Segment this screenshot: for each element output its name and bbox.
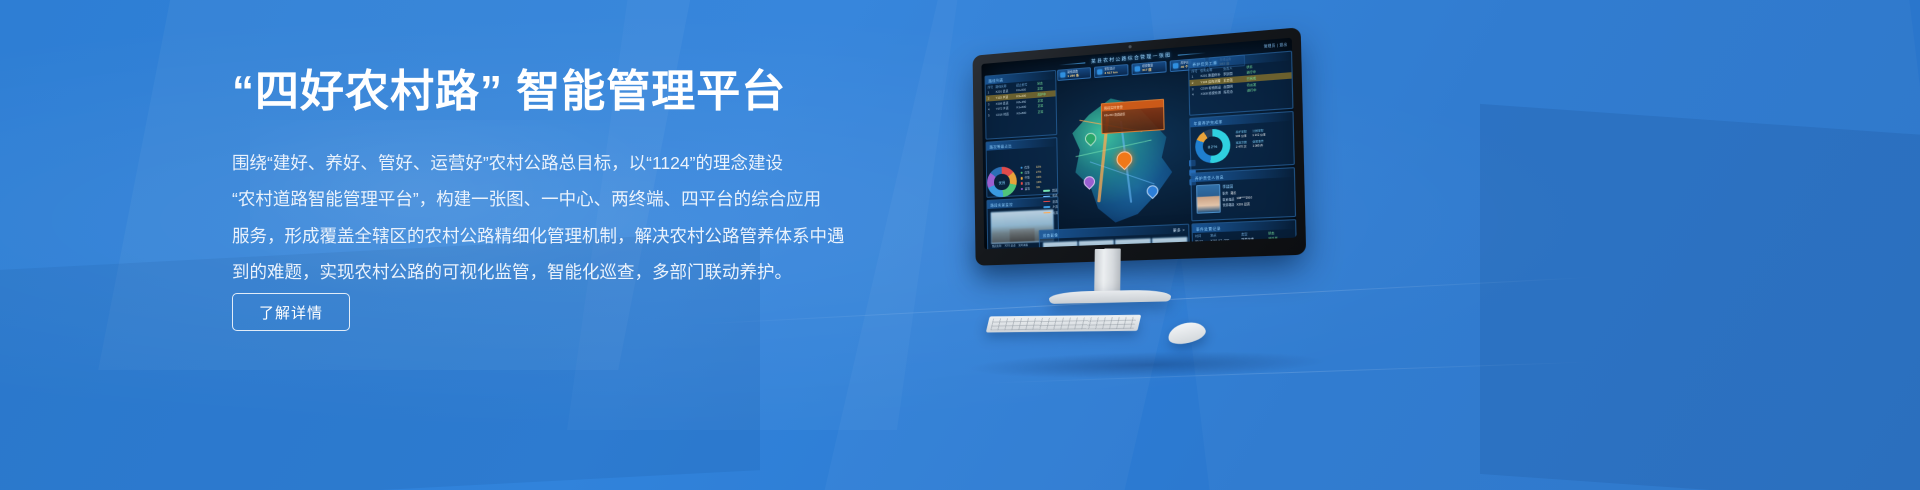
legend-label: 优等: [1024, 165, 1034, 170]
legend-label: 良等: [1024, 170, 1034, 175]
description-line: 服务，形成覆盖全辖区的农村公路精细化管理机制，解决农村公路管养体系中遇: [232, 218, 846, 254]
legend-swatch: [1043, 195, 1050, 197]
legend-label: 乡道: [1052, 205, 1057, 209]
stat-value: 2 470 次: [1236, 144, 1249, 149]
donut-center-label: 优良: [999, 179, 1006, 184]
legend-value: 32%: [1036, 165, 1041, 168]
field-label: 职务: [1223, 191, 1229, 196]
kpi-value: 317 座: [1142, 67, 1153, 72]
kpi-card[interactable]: 路线总数1 286 条: [1057, 67, 1091, 81]
field-value: 138****2910: [1236, 196, 1252, 201]
hero-banner: “四好农村路” 智能管理平台 围绕“建好、养好、管好、运营好”农村公路总目标，以…: [0, 0, 1920, 490]
mouse[interactable]: [1166, 319, 1208, 347]
panel-title: 巡查影像: [1043, 232, 1058, 238]
stat-value: 936 公里: [1236, 133, 1249, 138]
legend-swatch: [1021, 166, 1023, 169]
map-legend: 国道 省道 县道 乡道 村道: [1043, 188, 1058, 216]
kpi-value: 1 286 条: [1067, 73, 1079, 78]
person-details: 李建国 职务路长 联系电话138****2910 管养路段X201 县道: [1222, 182, 1252, 207]
panel-title: 养护责任人信息: [1191, 168, 1294, 182]
legend-label: 差等: [1025, 186, 1035, 191]
field-value: 路长: [1230, 191, 1236, 196]
avatar: [1196, 184, 1221, 214]
learn-more-button[interactable]: 了解详情: [232, 293, 350, 331]
legend-label: 村道: [1052, 210, 1057, 214]
stat-value: 1 142 公里: [1252, 132, 1265, 137]
kpi-card[interactable]: 里程总计4 517 km: [1094, 64, 1129, 78]
person-name: 李建国: [1222, 182, 1252, 189]
route-icon: [1060, 72, 1065, 77]
map-alert-tooltip: 路段实时告警 K8+450 路面破损: [1101, 99, 1165, 134]
legend-swatch: [1043, 206, 1050, 208]
team-icon: [1173, 63, 1178, 69]
distance-icon: [1097, 69, 1102, 75]
legend-swatch: [1021, 182, 1023, 185]
completion-stats: 养护里程936 公里 计划里程1 142 公里 巡查次数2 470 次 处置事件…: [1236, 128, 1266, 149]
kpi-value: 4 517 km: [1104, 70, 1117, 75]
column-header: 序号: [1191, 69, 1198, 74]
monitor-stand-base: [1049, 289, 1171, 304]
panel-title: 路况等级占比: [987, 138, 1057, 151]
legend-value: 9%: [1036, 186, 1040, 189]
legend-value: 27%: [1036, 170, 1041, 173]
legend-value: 13%: [1036, 181, 1041, 184]
page-title: “四好农村路” 智能管理平台: [232, 64, 872, 119]
event-record-panel: 事件处置记录 时间 地点 类型 状态 09:12 X201 K2+300 路面坑…: [1191, 219, 1296, 249]
monitor-bezel: 某县农村公路综合管理一张图 管理员 | 退出 路线总数1 286 条 里程总计4…: [973, 27, 1307, 266]
legend-label: 次等: [1025, 181, 1035, 186]
webcam-icon: [1128, 45, 1131, 48]
hero-description: 围绕“建好、养好、管好、运营好”农村公路总目标，以“1124”的理念建设 “农村…: [232, 145, 846, 291]
dashboard-screen: 某县农村公路综合管理一张图 管理员 | 退出 路线总数1 286 条 里程总计4…: [981, 38, 1296, 250]
description-line: 到的难题，实现农村公路的可视化监管，智能化巡查，多部门联动养护。: [232, 254, 846, 290]
field-label: 管养路段: [1223, 202, 1235, 207]
dashboard-user-menu[interactable]: 管理员 | 退出: [1264, 41, 1288, 48]
legend-swatch: [1043, 212, 1050, 214]
gallery-thumbnail[interactable]: [1043, 241, 1078, 250]
legend-label: 省道: [1052, 194, 1057, 198]
column-header: 时间: [1195, 233, 1208, 238]
legend-label: 中等: [1025, 175, 1035, 180]
field-label: 联系电话: [1223, 197, 1235, 202]
description-line: 围绕“建好、养好、管好、运营好”农村公路总目标，以“1124”的理念建设: [232, 145, 846, 181]
maintenance-task-panel: 养护任务工单 序号 任务名称 负责人 状态 1 X201 路面修补 李建国 进行…: [1188, 51, 1294, 116]
table-row[interactable]: 10:05 Y115 K0+700 边坡塌方 处置中: [1193, 241, 1296, 249]
legend-value: 19%: [1036, 176, 1041, 179]
column-header: 序号: [988, 85, 994, 89]
desktop-computer-mockup: 某县农村公路综合管理一张图 管理员 | 退出 路线总数1 286 条 里程总计4…: [972, 49, 1308, 356]
legend-label: 国道: [1052, 188, 1057, 192]
donut-center-value: 82%: [1203, 136, 1223, 156]
legend-swatch: [1043, 190, 1050, 192]
kpi-card[interactable]: 桥梁数量317 座: [1131, 61, 1166, 75]
hero-copy: “四好农村路” 智能管理平台 围绕“建好、养好、管好、运营好”农村公路总目标，以…: [232, 64, 872, 291]
legend-swatch: [1021, 172, 1023, 175]
description-line: “农村道路智能管理平台”，构建一张图、一中心、两终端、四平台的综合应用: [232, 181, 846, 217]
column-header: 状态: [1268, 230, 1286, 235]
legend-label: 县道: [1052, 199, 1057, 203]
legend-swatch: [1021, 177, 1023, 180]
keyboard[interactable]: [986, 315, 1141, 333]
route-list-panel: 路线列表 序号 路线名称 起止桩号 状态 1 X201 县道 K0+000 正常: [985, 70, 1058, 140]
keyboard-keys: [990, 317, 1136, 331]
legend-swatch: [1043, 201, 1050, 203]
road-condition-legend: 优等32% 良等27% 中等19% 次等13% 差等9%: [1021, 165, 1042, 191]
bridge-icon: [1135, 66, 1140, 72]
field-value: X201 县道: [1236, 202, 1249, 207]
gallery-more-link[interactable]: 更多 >: [1173, 226, 1185, 232]
legend-swatch: [1021, 187, 1023, 190]
stat-value: 1 085 件: [1252, 143, 1265, 148]
gallery-thumbnail[interactable]: [1152, 236, 1188, 249]
